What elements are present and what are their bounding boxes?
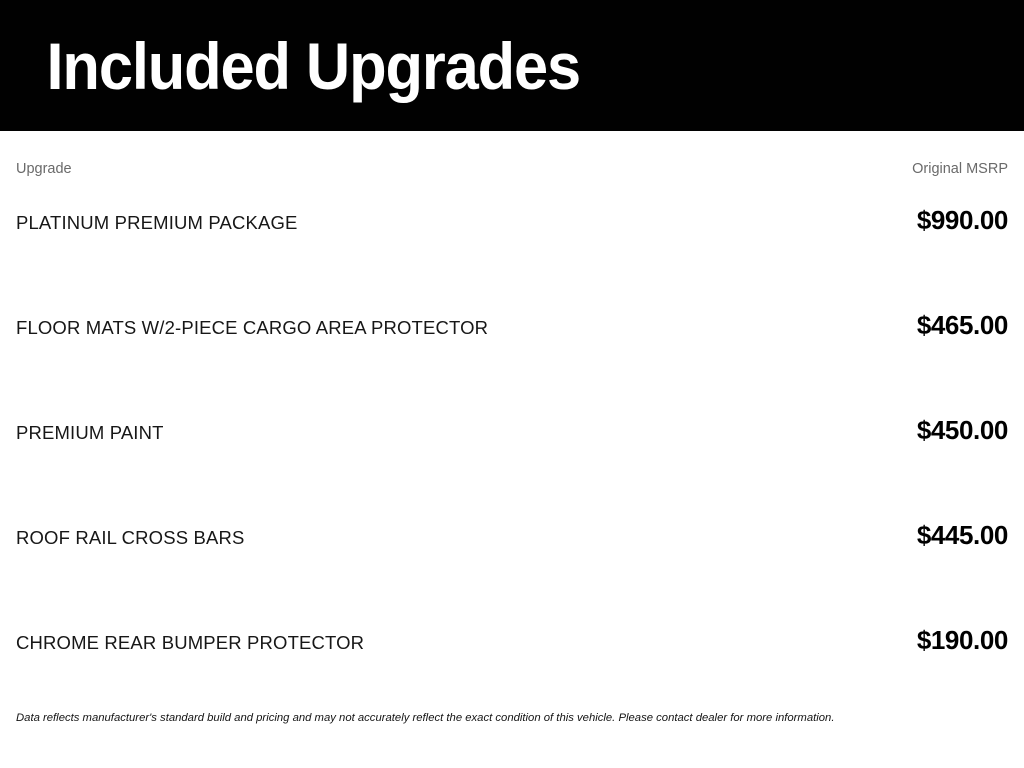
column-header-upgrade: Upgrade — [16, 162, 72, 177]
upgrade-price: $445.00 — [917, 522, 1008, 548]
page-title: Included Upgrades — [0, 33, 580, 99]
upgrade-name: FLOOR MATS W/2-PIECE CARGO AREA PROTECTO… — [16, 319, 488, 338]
table-body: PLATINUM PREMIUM PACKAGE $990.00 FLOOR M… — [16, 207, 1008, 732]
upgrade-name: PLATINUM PREMIUM PACKAGE — [16, 214, 297, 233]
upgrades-table: Upgrade Original MSRP PLATINUM PREMIUM P… — [0, 131, 1024, 732]
table-row: PLATINUM PREMIUM PACKAGE $990.00 — [16, 207, 1008, 312]
included-upgrades-page: Included Upgrades Upgrade Original MSRP … — [0, 0, 1024, 768]
upgrade-price: $190.00 — [917, 627, 1008, 653]
upgrade-name: ROOF RAIL CROSS BARS — [16, 529, 244, 548]
table-row: PREMIUM PAINT $450.00 — [16, 417, 1008, 522]
upgrade-name: CHROME REAR BUMPER PROTECTOR — [16, 634, 364, 653]
upgrade-price: $990.00 — [917, 207, 1008, 233]
table-row: ROOF RAIL CROSS BARS $445.00 — [16, 522, 1008, 627]
column-header-original-msrp: Original MSRP — [912, 162, 1008, 177]
table-row: FLOOR MATS W/2-PIECE CARGO AREA PROTECTO… — [16, 312, 1008, 417]
page-header-band: Included Upgrades — [0, 0, 1024, 131]
upgrade-name: PREMIUM PAINT — [16, 424, 164, 443]
upgrade-price: $465.00 — [917, 312, 1008, 338]
upgrade-price: $450.00 — [917, 417, 1008, 443]
table-column-headers: Upgrade Original MSRP — [16, 131, 1008, 186]
disclaimer-text: Data reflects manufacturer's standard bu… — [16, 711, 1008, 725]
